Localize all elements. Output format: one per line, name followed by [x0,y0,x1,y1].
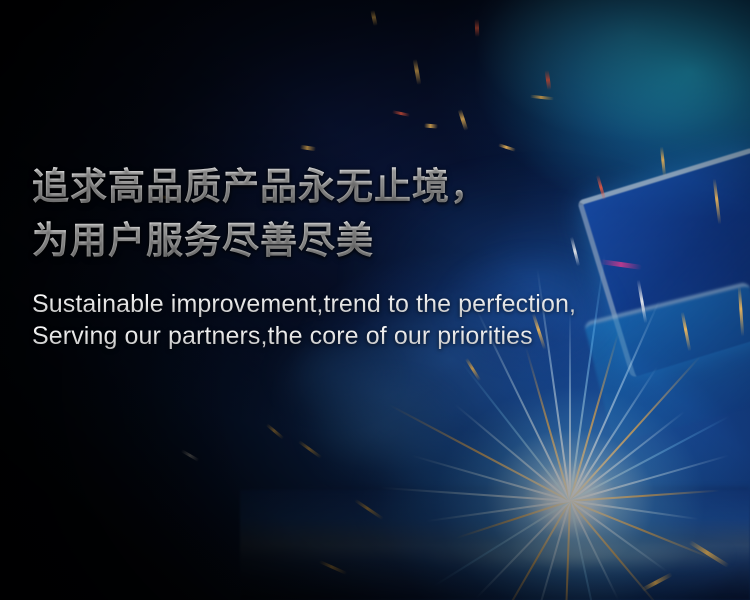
slogan-chinese-line-2: 为用户服务尽善尽美 [32,214,722,268]
spark [392,110,410,117]
spark [370,10,377,26]
spark [498,143,516,151]
slogan-english-line-1: Sustainable improvement,trend to the per… [32,288,722,320]
slogan-english-group: Sustainable improvement,trend to the per… [32,288,722,352]
hero-banner: 追求高品质产品永无止境， 为用户服务尽善尽美 Sustainable impro… [0,0,750,600]
slogan-chinese-line-1: 追求高品质产品永无止境， [32,160,722,214]
spark [181,449,200,462]
spark [424,124,438,129]
spark [413,59,421,85]
spark [530,95,554,100]
spark [545,70,552,90]
spark [300,145,316,151]
slogan-text-block: 追求高品质产品永无止境， 为用户服务尽善尽美 Sustainable impro… [32,160,722,352]
spark [266,423,285,439]
spark [458,109,469,131]
slogan-english-line-2: Serving our partners,the core of our pri… [32,320,722,352]
spark [475,19,480,37]
